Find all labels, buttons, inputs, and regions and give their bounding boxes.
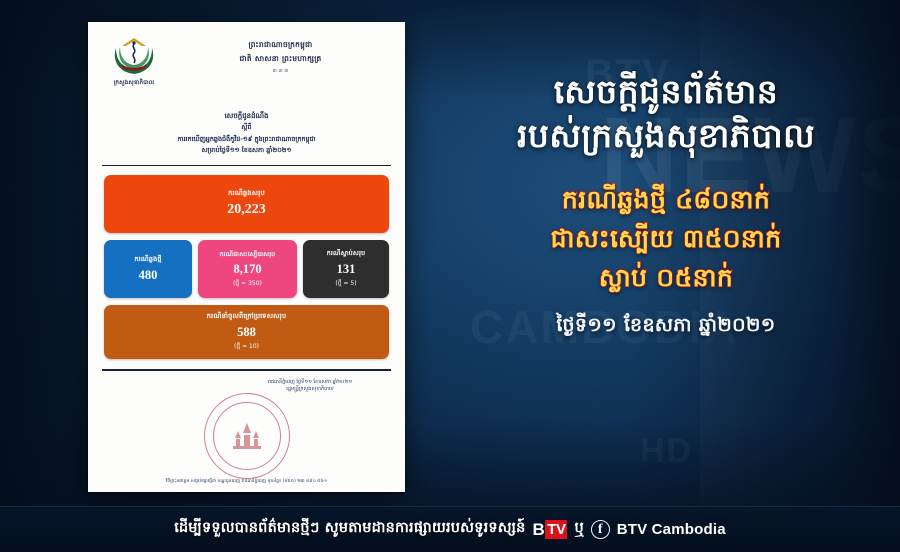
signature-text: រាជធានីភ្នំពេញ ថ្ងៃទី១១ ខែឧសភា ឆ្នាំ២០២១… (235, 379, 385, 394)
official-stamp-icon (204, 393, 290, 479)
stat-box-new-cases: ករណីឆ្លងថ្មី 480 (104, 240, 192, 298)
statistics-panel: ករណីឆ្លងសរុប 20,223 ករណីឆ្លងថ្មី 480 ករណ… (100, 166, 393, 359)
key-stat-recovered: ជាសះស្បើយ ៣៥០នាក់ (432, 219, 900, 258)
report-date: ថ្ងៃទី១១ ខែឧសភា ឆ្នាំ២០២១ (432, 313, 900, 341)
statistics-row: ករណីឆ្លងថ្មី 480 ករណីជាសះស្បើយសរុប 8,170… (104, 240, 389, 298)
stat-sub-recovered: (ថ្មី = 350) (202, 279, 293, 288)
kingdom-line-3: ៣ ៣ ៣ (168, 68, 393, 75)
stat-value-total: 20,223 (108, 202, 385, 218)
key-stat-new-cases: ករណីឆ្លងថ្មី ៤៨០នាក់ (432, 180, 900, 219)
document-title-line-3: ការរកឃើញអ្នកឆ្លងជំងឺកូវីដ-១៩ ក្នុងព្រះរា… (100, 135, 393, 144)
document-title-line-2: ស្តីពី (100, 123, 393, 133)
signature-line-2: រដ្ឋមន្ត្រីក្រសួងសុខាភិបាល (235, 386, 385, 394)
watermark-hd: HD (640, 432, 693, 471)
signature-area: រាជធានីភ្នំពេញ ថ្ងៃទី១១ ខែឧសភា ឆ្នាំ២០២១… (100, 371, 393, 491)
stat-box-imported-cases: ករណីនាំចូលពីក្រៅប្រទេសសរុប 588 (ថ្មី = 1… (104, 305, 389, 359)
broadcast-graphic: NEWS BTV CAMBODIA HD ក្រសួងសុខាភិបាល (0, 0, 900, 552)
document-title-line-1: សេចក្តីជូនដំណឹង (100, 112, 393, 122)
stat-value-deaths: 131 (307, 262, 385, 277)
headline-panel: សេចក្តីជូនព័ត៌មាន របស់ក្រសួងសុខាភិបាល ករ… (432, 70, 900, 341)
kingdom-heading: ព្រះរាជាណាចក្រកម្ពុជា ជាតិ សាសនា ព្រះមហា… (168, 32, 393, 75)
ministry-of-health-emblem-icon (108, 34, 160, 78)
document-header: ក្រសួងសុខាភិបាល ព្រះរាជាណាចក្រកម្ពុជា ជា… (100, 32, 393, 106)
key-statistics-list: ករណីឆ្លងថ្មី ៤៨០នាក់ ជាសះស្បើយ ៣៥០នាក់ ស… (432, 180, 900, 297)
bottom-bar-message: ដើម្បីទទួលបានព័ត៌មានថ្មីៗ សូមតាមដានការផ្… (174, 519, 525, 540)
btv-logo-b: B (533, 521, 545, 538)
headline-line-2: របស់ក្រសួងសុខាភិបាល (432, 114, 900, 158)
facebook-icon[interactable]: f (591, 520, 610, 539)
kingdom-line-2: ជាតិ សាសនា ព្រះមហាក្សត្រ (168, 54, 393, 65)
press-release-document: ក្រសួងសុខាភិបាល ព្រះរាជាណាចក្រកម្ពុជា ជា… (88, 22, 405, 492)
main-headline: សេចក្តីជូនព័ត៌មាន របស់ក្រសួងសុខាភិបាល (432, 70, 900, 158)
headline-line-1: សេចក្តីជូនព័ត៌មាន (432, 70, 900, 114)
document-title-block: សេចក្តីជូនដំណឹង ស្តីពី ការរកឃើញអ្នកឆ្លងជ… (100, 112, 393, 156)
ministry-logo-caption: ក្រសួងសុខាភិបាល (114, 79, 155, 87)
stat-value-imported: 588 (108, 325, 385, 340)
stat-value-recovered: 8,170 (202, 262, 293, 277)
stat-box-deaths: ករណីស្លាប់សរុប 131 (ថ្មី = 5) (303, 240, 389, 298)
stat-sub-deaths: (ថ្មី = 5) (307, 279, 385, 288)
ministry-logo-block: ក្រសួងសុខាភិបាល (100, 32, 168, 87)
stat-box-recovered: ករណីជាសះស្បើយសរុប 8,170 (ថ្មី = 350) (198, 240, 297, 298)
stat-caption-new: ករណីឆ្លងថ្មី (108, 255, 188, 265)
stat-caption-imported: ករណីនាំចូលពីក្រៅប្រទេសសរុប (108, 312, 385, 322)
kingdom-line-1: ព្រះរាជាណាចក្រកម្ពុជា (168, 40, 393, 51)
stat-caption-deaths: ករណីស្លាប់សរុប (307, 250, 385, 259)
document-title-line-4: សម្រាប់ថ្ងៃទី១១ ខែឧសភា ឆ្នាំ២០២១ (100, 146, 393, 155)
stat-sub-imported: (ថ្មី = 10) (108, 342, 385, 351)
signature-line-1: រាជធានីភ្នំពេញ ថ្ងៃទី១១ ខែឧសភា ឆ្នាំ២០២១ (235, 379, 385, 387)
facebook-page-name[interactable]: BTV Cambodia (617, 521, 726, 538)
stat-caption-recovered: ករណីជាសះស្បើយសរុប (202, 250, 293, 259)
key-stat-deaths: ស្លាប់ ០៥នាក់ (432, 258, 900, 297)
document-footer-address: វិថីព្រះនរោត្តម សង្កាត់ផ្សារថ្មី៣ ខណ្ឌដូ… (112, 479, 381, 485)
stat-value-new: 480 (108, 268, 188, 283)
stat-box-total-cases: ករណីឆ្លងសរុប 20,223 (104, 175, 389, 233)
bottom-bar-or: ឬ (574, 519, 583, 540)
stat-caption-total: ករណីឆ្លងសរុប (108, 189, 385, 199)
btv-logo-tv: TV (545, 520, 567, 539)
bottom-info-bar: ដើម្បីទទួលបានព័ត៌មានថ្មីៗ សូមតាមដានការផ្… (0, 506, 900, 552)
btv-logo: B TV (533, 520, 568, 539)
